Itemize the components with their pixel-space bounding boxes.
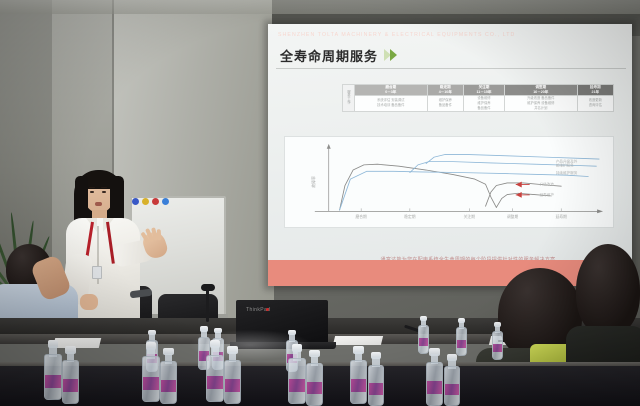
table-header-cell: 磨合期 0－3年 xyxy=(355,85,428,96)
presenter-mouth xyxy=(95,202,102,206)
presenter-left-hand xyxy=(80,294,98,310)
chart-line-基准寿命曲线 xyxy=(340,164,497,210)
table-cell: 维护保养 备品备件 xyxy=(427,95,463,111)
laptop-logo-dot-icon xyxy=(266,308,269,311)
water-bottle xyxy=(44,340,62,400)
table-cell: 升级改造 备品备件 维护保养 设备维修 并名计划 xyxy=(504,95,577,111)
slide-title-row: 全寿命周期服务 xyxy=(280,44,624,66)
chevron-right-double-icon xyxy=(384,49,400,62)
x-axis-ticks xyxy=(361,208,561,211)
paper-sheet xyxy=(333,336,383,345)
x-axis-tick-label: 关注期 xyxy=(464,214,476,219)
table-header-cell: 关注期 11－15年 xyxy=(463,85,504,96)
water-bottle xyxy=(426,348,443,406)
x-axis-tick-label: 调整期 xyxy=(507,214,519,219)
laptop-base xyxy=(230,342,336,349)
water-bottle xyxy=(206,340,224,402)
water-bottle xyxy=(350,346,367,404)
presenter-eye xyxy=(102,191,106,193)
lifecycle-table: 服务工作 磨合期 0－3年 稳定期 4－10年 关注期 11－15年 调整期 1… xyxy=(342,84,614,112)
water-bottle xyxy=(444,354,460,406)
microphone-stem xyxy=(206,288,209,322)
table-cell: 设备维修 维护保养 备品备件 xyxy=(463,95,504,111)
table-header-cell: 稳定期 4－10年 xyxy=(427,85,463,96)
chart-annotation: 持续维护服务 xyxy=(556,170,578,175)
chart-svg: 产品升级及外部维护服务持续维护服务升级改造延寿维护 故障率 磨合期稳定期关注期调… xyxy=(285,137,613,227)
y-axis-label: 故障率 xyxy=(311,176,316,188)
presenter-eye xyxy=(90,191,94,193)
x-axis-tick-labels: 磨合期稳定期关注期调整期延寿期 xyxy=(356,214,568,219)
chart-annotation: 升级改造 xyxy=(540,182,555,187)
title-divider xyxy=(276,68,626,69)
table-header-row: 服务工作 磨合期 0－3年 稳定期 4－10年 关注期 11－15年 调整期 1… xyxy=(343,85,614,96)
conference-room-photo: 全寿命周期服务 服务工作 磨合期 0－3年 稳定期 4－10年 关注期 xyxy=(0,0,640,406)
water-bottle xyxy=(456,318,467,356)
water-bottle xyxy=(62,346,79,404)
lifecycle-chart: 产品升级及外部维护服务持续维护服务升级改造延寿维护 故障率 磨合期稳定期关注期调… xyxy=(284,136,614,228)
left-arrow-head-icon xyxy=(516,192,522,198)
x-axis-tick-label: 稳定期 xyxy=(404,214,416,219)
table-body-row: 系统评估 安装调试 技术培训 备品备件 维护保养 备品备件 设备维修 维护保养 … xyxy=(343,95,614,111)
x-axis-tick-label: 磨合期 xyxy=(356,214,368,219)
table-row-label: 服务工作 xyxy=(343,85,355,112)
chart-annotation: 延寿维护 xyxy=(540,192,555,197)
table-header-cell: 延寿期 21年 xyxy=(577,85,613,96)
table-cell: 系统评估 安装调试 技术培训 备品备件 xyxy=(355,95,428,111)
water-bottle xyxy=(224,346,241,404)
presenter-badge xyxy=(92,266,102,279)
y-axis-arrow xyxy=(327,144,331,149)
water-bottle xyxy=(160,348,177,404)
ceiling-strip xyxy=(0,0,640,14)
table-header-cell: 调整期 16－20年 xyxy=(504,85,577,96)
page-title: 全寿命周期服务 xyxy=(280,46,378,65)
water-bottle xyxy=(288,344,306,404)
x-axis-tick-label: 延寿期 xyxy=(556,214,568,219)
company-name: SHENZHEN TOLTA MACHINERY & ELECTRICAL EQ… xyxy=(278,32,515,38)
chart-annotation: 产品升级及外部维护服务 xyxy=(556,158,578,167)
projected-slide: 全寿命周期服务 服务工作 磨合期 0－3年 稳定期 4－10年 关注期 xyxy=(268,24,632,286)
water-bottle xyxy=(306,350,323,406)
table-cell: 改造更新 咨询评估 xyxy=(577,95,613,111)
x-axis-arrow xyxy=(597,209,603,213)
water-bottle xyxy=(492,322,503,360)
presentation-clicker xyxy=(130,289,153,299)
water-bottle xyxy=(142,342,160,402)
attendee-head xyxy=(576,244,640,336)
water-bottle xyxy=(368,352,384,406)
left-arrow-head-icon xyxy=(516,182,522,188)
